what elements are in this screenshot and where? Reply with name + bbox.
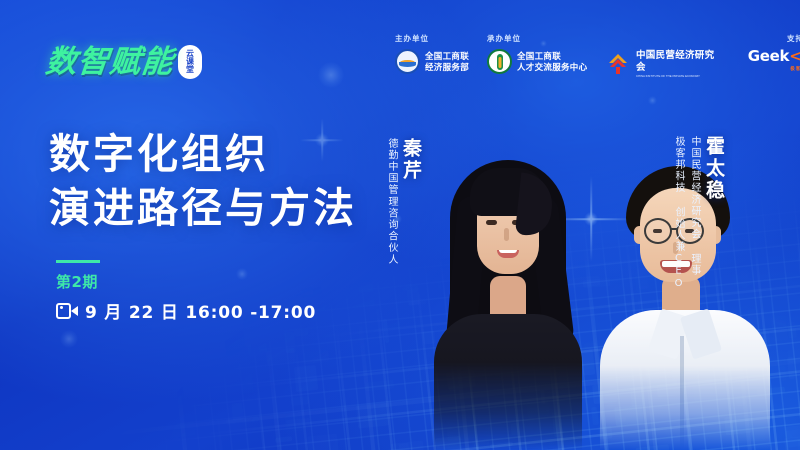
schedule-text: 9 月 22 日 16:00 -17:00 [85, 298, 316, 323]
bokeh-dot [236, 268, 248, 280]
badge-char-3: 堂 [186, 66, 194, 74]
partner-supporter: 支持单位 Geek<bang>. 极客邦科技 [723, 33, 800, 72]
partner-co-organizer: 承办单位 全国工商联 人才交流服务中心 [487, 33, 605, 74]
webinar-poster: 数智赋能 云 课 堂 主办单位 全国工商联 经济服务部 承办单位 全国工商 [0, 0, 800, 450]
seal-emblem-icon [487, 49, 512, 74]
bokeh-dot [648, 96, 657, 105]
title-line-2: 演进路径与方法 [49, 181, 357, 235]
geekbang-logo: Geek<bang>. 极客邦科技 [748, 49, 800, 72]
speaker-2-info: 极客邦科技 创始人兼CEO 中国民营经济研究会 理事 霍太稳 [672, 136, 723, 291]
brand-logo: 数智赋能 云 课 堂 [46, 36, 202, 81]
geekbang-logo-sub: 极客邦科技 [790, 66, 800, 72]
partner-name-line1: 全国工商联 [517, 51, 587, 62]
partner-name-line1: 中国民营经济研究会 [636, 50, 723, 74]
partner-label: 承办单位 [487, 33, 605, 44]
schedule-row: 9 月 22 日 16:00 -17:00 [56, 298, 316, 323]
speaker-1-title: 德勤中国管理咨询合伙人 [385, 138, 398, 266]
partner-logos: 主办单位 全国工商联 经济服务部 承办单位 全国工商联 人才交流服务中心 [395, 33, 800, 78]
episode-badge: 第2期 [56, 260, 100, 292]
episode-label: 第2期 [56, 271, 100, 292]
speaker-1-info: 德勤中国管理咨询合伙人 秦芹 [385, 138, 420, 266]
partner-name: 全国工商联 人才交流服务中心 [517, 51, 587, 72]
mountain-emblem-icon [605, 52, 631, 76]
bokeh-dot [60, 330, 78, 348]
title-line-1: 数字化组织 [49, 127, 357, 181]
brand-logo-text: 数智赋能 [44, 36, 177, 81]
seal-emblem-icon [395, 49, 420, 74]
speaker-2-name: 霍太稳 [704, 136, 723, 202]
page-title: 数字化组织 演进路径与方法 [49, 127, 357, 235]
bokeh-dot [318, 62, 344, 88]
speaker-1-name: 秦芹 [401, 138, 420, 182]
partner-name-line2: 经济服务部 [425, 62, 469, 73]
video-camera-icon [56, 303, 78, 319]
partner-name-line1: 全国工商联 [425, 51, 469, 62]
partner-name: 全国工商联 经济服务部 [425, 51, 469, 72]
accent-divider [56, 260, 100, 263]
speaker-2-title-line-2: 极客邦科技 创始人兼CEO [672, 136, 685, 291]
partner-name-line2: CHINA INSTITUTE OF THE PRIVATE ECONOMY [636, 74, 714, 78]
geekbang-logo-text: Geek<bang>. [748, 49, 800, 64]
speaker-2-title-line-1: 中国民营经济研究会 理事 [688, 136, 701, 276]
brand-logo-badge: 云 课 堂 [178, 45, 202, 79]
geekbang-word-1: Geek [748, 47, 789, 65]
geekbang-bracket-open: < [789, 47, 800, 65]
partner-research-association: 中国民营经济研究会 CHINA INSTITUTE OF THE PRIVATE… [605, 33, 723, 78]
partner-label: 主办单位 [395, 33, 487, 44]
partner-organizer: 主办单位 全国工商联 经济服务部 [395, 33, 487, 74]
partner-name: 中国民营经济研究会 CHINA INSTITUTE OF THE PRIVATE… [636, 50, 723, 78]
supporter-label: 支持单位 [787, 33, 800, 44]
partner-name-line2: 人才交流服务中心 [517, 62, 587, 73]
speaker-portrait-female [432, 138, 584, 450]
